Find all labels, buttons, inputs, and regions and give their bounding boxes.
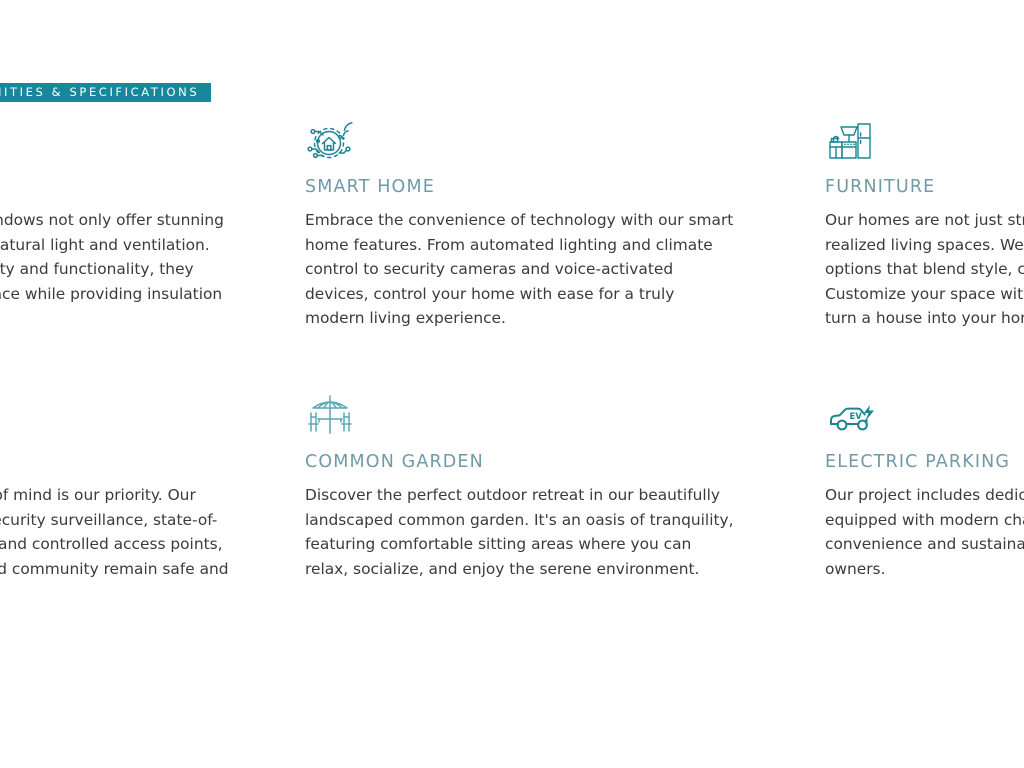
feature-body: Our project includes dedicated electric …: [825, 483, 1024, 581]
feature-title: COMMON GARDEN: [305, 453, 793, 472]
feature-card-electric-parking: EV ELECTRIC PARKING Our project includes…: [825, 393, 1024, 606]
feature-title: WINDOWS: [0, 178, 273, 197]
feature-body: Our energy-efficient windows not only of…: [0, 208, 248, 331]
features-grid: WINDOWS Our energy-efficient windows not…: [0, 118, 1024, 606]
feature-card-furniture: FURNITURE Our homes are not just structu…: [825, 118, 1024, 331]
smart-home-icon: [305, 118, 793, 166]
feature-title: FURNITURE: [825, 178, 1024, 197]
feature-title: SMART HOME: [305, 178, 793, 197]
feature-card-smart-home: SMART HOME Embrace the convenience of te…: [305, 118, 793, 331]
feature-card-security: SECURITY Your safety and peace of mind i…: [0, 393, 273, 606]
patio-umbrella-icon: [305, 393, 793, 441]
feature-card-windows: WINDOWS Our energy-efficient windows not…: [0, 118, 273, 331]
svg-text:EV: EV: [850, 412, 863, 422]
feature-body: Your safety and peace of mind is our pri…: [0, 483, 248, 606]
feature-title: ELECTRIC PARKING: [825, 453, 1024, 472]
ev-car-icon: EV: [825, 393, 1024, 441]
window-icon: [0, 118, 273, 166]
feature-body: Our homes are not just structures; they …: [825, 208, 1024, 331]
feature-body: Discover the perfect outdoor retreat in …: [305, 483, 735, 581]
feature-grid-page: AMENITIES & SPECIFICATIONS WINDOWS Our e…: [0, 0, 1024, 768]
security-icon: [0, 393, 273, 441]
feature-card-common-garden: COMMON GARDEN Discover the perfect outdo…: [305, 393, 793, 606]
feature-title: SECURITY: [0, 453, 273, 472]
section-badge: AMENITIES & SPECIFICATIONS: [0, 83, 211, 102]
feature-body: Embrace the convenience of technology wi…: [305, 208, 735, 331]
kitchen-furniture-icon: [825, 118, 1024, 166]
